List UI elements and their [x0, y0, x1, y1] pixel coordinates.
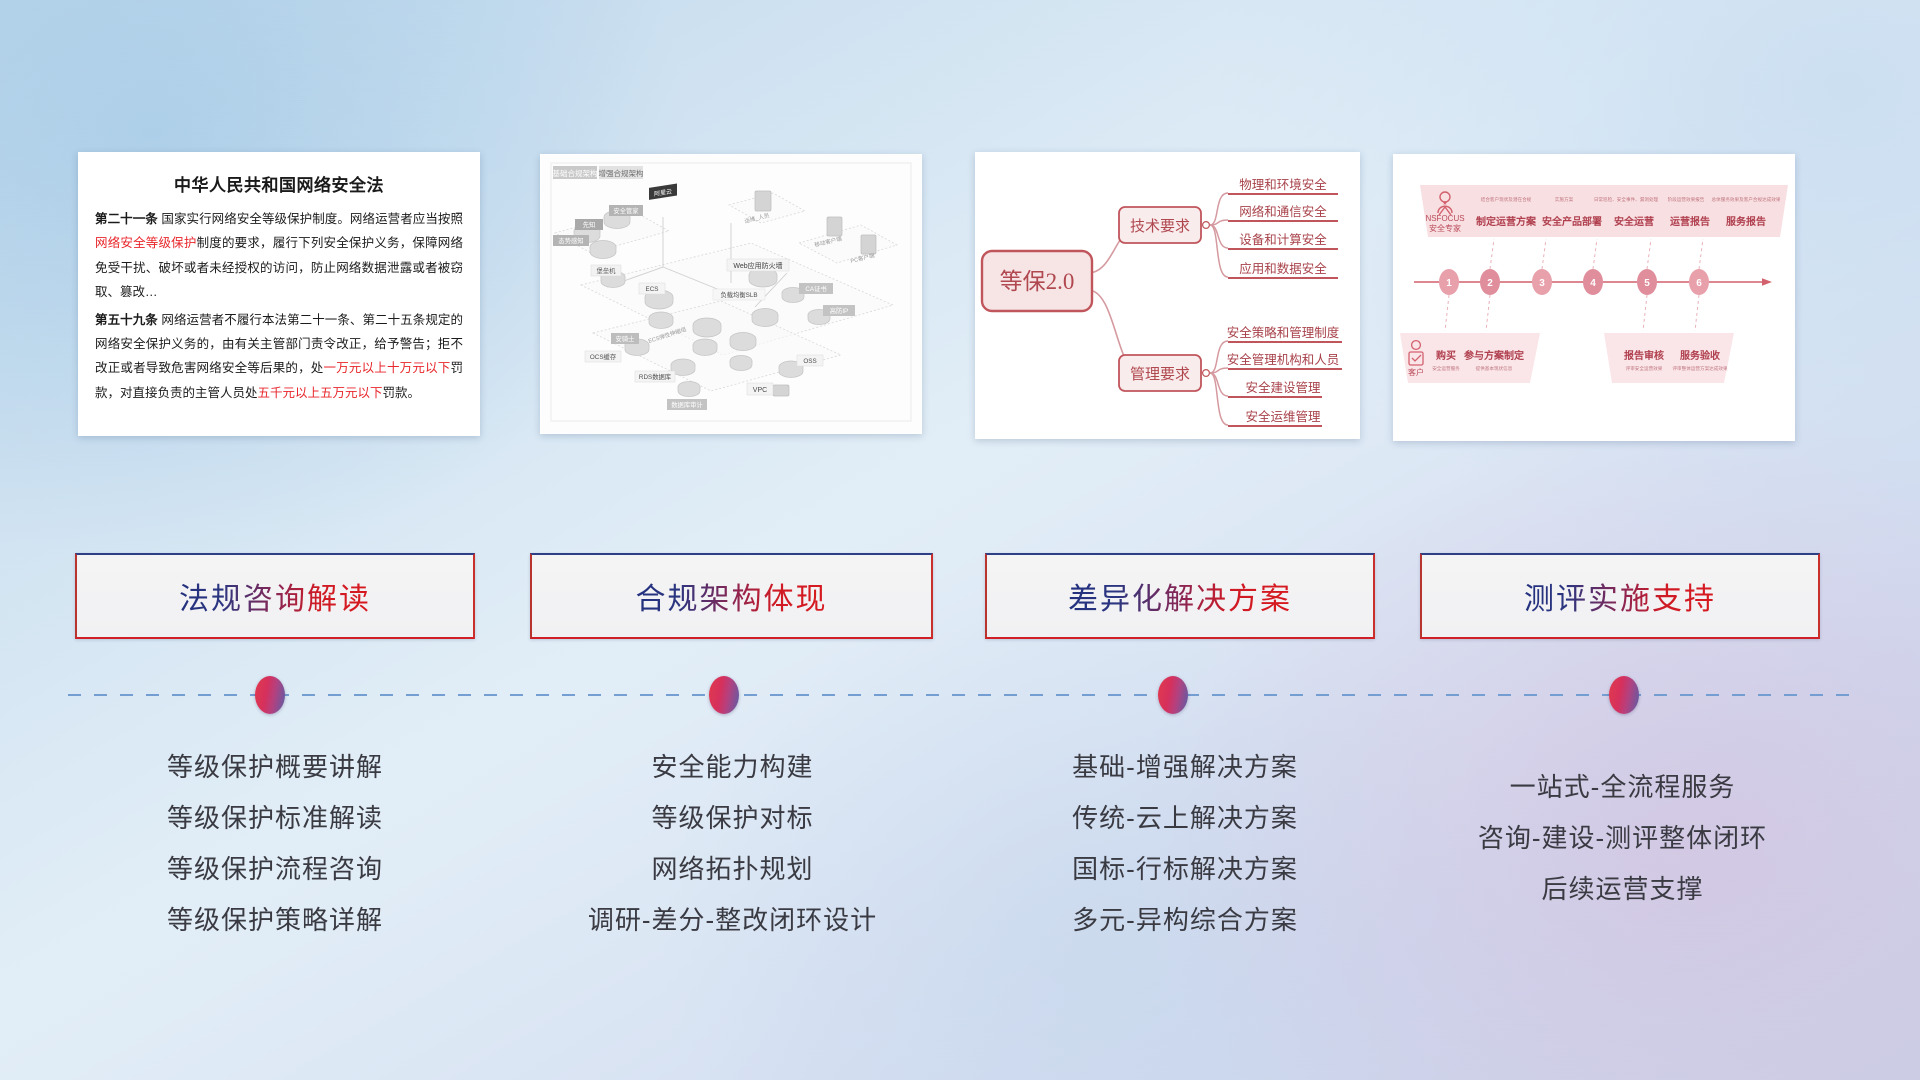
list-item: 后续运营支撑	[1420, 864, 1825, 915]
list-item: 国标-行标解决方案	[985, 844, 1385, 895]
list-item: 网络拓扑规划	[525, 844, 940, 895]
list-item: 等级保护标准解读	[70, 793, 480, 844]
svg-text:5: 5	[1644, 278, 1650, 289]
nsfocus-bottom-step-1: 购买	[1436, 349, 1456, 362]
law-body-text: 国家实行网络安全等级保护制度。网络运营者应当按照	[158, 212, 463, 226]
section-title-row: 法规咨询解读 合规架构体现 差异化解决方案 测评实施支持	[0, 553, 1920, 639]
mindmap-leaf-mgmt-4: 安全运维管理	[1245, 409, 1321, 424]
mindmap-leaf-tech-4: 应用和数据安全	[1239, 261, 1327, 276]
nsfocus-client-label: 客户	[1408, 367, 1424, 377]
timeline-dashed-rail	[68, 694, 1858, 696]
section-detail-list-3: 基础-增强解决方案 传统-云上解决方案 国标-行标解决方案 多元-异构综合方案	[985, 742, 1385, 946]
svg-text:OCS缓存: OCS缓存	[590, 352, 617, 361]
section-detail-list-4: 一站式-全流程服务 咨询-建设-测评整体闭环 后续运营支撑	[1420, 762, 1825, 915]
section-title-box-3[interactable]: 差异化解决方案	[985, 553, 1375, 639]
cloud-architecture-diagram: 基础合规架构 增强合规架构 阿里云	[541, 155, 921, 433]
section-detail-list-1: 等级保护概要讲解 等级保护标准解读 等级保护流程咨询 等级保护策略详解	[70, 742, 480, 946]
law-highlight-text: 五千元以上五万元以下	[258, 386, 383, 400]
law-text-card: 中华人民共和国网络安全法 第二十一条 国家实行网络安全等级保护制度。网络运营者应…	[78, 152, 480, 436]
svg-text:CA证书: CA证书	[805, 284, 826, 293]
svg-text:阶段运营效果报告: 阶段运营效果报告	[1668, 196, 1705, 203]
nsfocus-top-step-2: 安全产品部署	[1542, 215, 1602, 228]
svg-text:评审整体运营方案达成效果: 评审整体运营方案达成效果	[1672, 365, 1728, 372]
svg-text:ECS: ECS	[646, 286, 659, 293]
svg-text:安全管家: 安全管家	[613, 206, 639, 215]
law-card-body: 中华人民共和国网络安全法 第二十一条 国家实行网络安全等级保护制度。网络运营者应…	[79, 153, 479, 435]
svg-text:总体服务效果及客户合规达成效果: 总体服务效果及客户合规达成效果	[1712, 196, 1781, 203]
svg-text:4: 4	[1590, 278, 1596, 289]
section-title-box-2[interactable]: 合规架构体现	[530, 553, 933, 639]
list-item: 传统-云上解决方案	[985, 793, 1385, 844]
mindmap-branch-label-tech: 技术要求	[1130, 218, 1190, 235]
list-item: 咨询-建设-测评整体闭环	[1420, 813, 1825, 864]
section-title-box-1[interactable]: 法规咨询解读	[75, 553, 475, 639]
nsfocus-actor-role: 安全专家	[1429, 223, 1461, 233]
svg-text:提供基本现状信息: 提供基本现状信息	[1476, 365, 1513, 372]
timeline-node-4[interactable]	[1609, 676, 1639, 714]
section-title-label-4: 测评实施支持	[1524, 574, 1716, 618]
svg-text:6: 6	[1696, 278, 1702, 289]
list-item: 等级保护策略详解	[70, 895, 480, 946]
mindmap-leaf-tech-3: 设备和计算安全	[1239, 232, 1327, 247]
section-detail-row: 等级保护概要讲解 等级保护标准解读 等级保护流程咨询 等级保护策略详解 安全能力…	[0, 742, 1920, 972]
nsfocus-service-timeline: ★ NSFOCUS 安全专家 客户 123	[1394, 155, 1794, 440]
list-item: 多元-异构综合方案	[985, 895, 1385, 946]
svg-text:高防IP: 高防IP	[830, 306, 849, 315]
svg-text:负载均衡SLB: 负载均衡SLB	[720, 290, 757, 299]
mindmap-leaf-tech-1: 物理和环境安全	[1239, 177, 1327, 192]
screenshot-card-row: 中华人民共和国网络安全法 第二十一条 国家实行网络安全等级保护制度。网络运营者应…	[0, 152, 1920, 452]
svg-text:OSS: OSS	[803, 358, 816, 365]
section-title-label-1: 法规咨询解读	[179, 574, 371, 618]
nsfocus-bottom-step-4: 服务验收	[1680, 349, 1720, 362]
section-title-label-3: 差异化解决方案	[1068, 574, 1292, 618]
svg-text:评审安全运营效果: 评审安全运营效果	[1626, 365, 1663, 372]
nsfocus-top-step-5: 服务报告	[1726, 215, 1766, 228]
nsfocus-bottom-step-2: 参与方案制定	[1464, 349, 1524, 362]
list-item: 一站式-全流程服务	[1420, 762, 1825, 813]
list-item: 调研-差分-整改闭环设计	[525, 895, 940, 946]
mindmap-leaf-mgmt-3: 安全建设管理	[1245, 380, 1321, 395]
svg-text:实施方案: 实施方案	[1555, 196, 1574, 203]
svg-text:增强合规架构: 增强合规架构	[599, 168, 644, 178]
section-detail-list-2: 安全能力构建 等级保护对标 网络拓扑规划 调研-差分-整改闭环设计	[525, 742, 940, 946]
svg-text:态势感知: 态势感知	[558, 236, 583, 245]
svg-text:安骑士: 安骑士	[616, 334, 635, 343]
law-paragraph-1: 第二十一条 国家实行网络安全等级保护制度。网络运营者应当按照网络安全等级保护制度…	[95, 207, 463, 305]
svg-text:VPC: VPC	[753, 387, 767, 394]
svg-text:★: ★	[1442, 200, 1447, 207]
list-item: 安全能力构建	[525, 742, 940, 793]
svg-text:NSFOCUS: NSFOCUS	[1425, 214, 1464, 223]
law-card-title: 中华人民共和国网络安全法	[95, 171, 463, 196]
svg-text:堡垒机: 堡垒机	[597, 266, 617, 275]
section-title-box-4[interactable]: 测评实施支持	[1420, 553, 1820, 639]
law-highlight-text: 一万元以上十万元以下	[324, 361, 451, 375]
list-item: 等级保护对标	[525, 793, 940, 844]
svg-text:基础合规架构: 基础合规架构	[553, 168, 598, 178]
list-item: 基础-增强解决方案	[985, 742, 1385, 793]
nsfocus-top-step-3: 安全运营	[1614, 215, 1654, 228]
architecture-diagram-card: 基础合规架构 增强合规架构 阿里云	[540, 154, 922, 434]
svg-text:3: 3	[1539, 278, 1545, 289]
svg-text:2: 2	[1487, 278, 1493, 289]
law-body-text: 罚款。	[383, 386, 421, 400]
svg-text:数据库审计: 数据库审计	[671, 400, 703, 409]
mindmap-leaf-mgmt-2: 安全管理机构和人员	[1227, 352, 1340, 367]
nsfocus-timeline-card: ★ NSFOCUS 安全专家 客户 123	[1393, 154, 1795, 441]
timeline-node-2[interactable]	[709, 676, 739, 714]
mindmap-branch-label-mgmt: 管理要求	[1130, 366, 1190, 383]
svg-text:结合客户现状及潜在合规: 结合客户现状及潜在合规	[1481, 196, 1532, 203]
timeline-node-1[interactable]	[255, 676, 285, 714]
law-paragraph-2: 第五十九条 网络运营者不履行本法第二十一条、第二十五条规定的网络安全保护义务的，…	[95, 308, 463, 406]
law-article-number: 第二十一条	[95, 212, 158, 226]
svg-text:先知: 先知	[583, 220, 596, 229]
mindmap-leaf-mgmt-1: 安全策略和管理制度	[1227, 325, 1340, 340]
svg-text:安全运营服务: 安全运营服务	[1432, 365, 1460, 372]
mindmap-root-label: 等保2.0	[1000, 269, 1075, 294]
nsfocus-bottom-step-3: 报告审核	[1624, 349, 1664, 362]
section-title-label-2: 合规架构体现	[636, 574, 828, 618]
svg-text:1: 1	[1446, 278, 1452, 289]
nsfocus-top-step-4: 运营报告	[1670, 215, 1710, 228]
list-item: 等级保护流程咨询	[70, 844, 480, 895]
nsfocus-top-step-1: 制定运营方案	[1476, 215, 1537, 228]
mindmap-leaf-tech-2: 网络和通信安全	[1239, 204, 1327, 219]
law-article-number: 第五十九条	[95, 313, 158, 327]
mindmap-card: 等保2.0 技术要求 管理要求 物	[975, 152, 1360, 439]
timeline-node-3[interactable]	[1158, 676, 1188, 714]
law-highlight-text: 网络安全等级保护	[95, 236, 197, 250]
dengbao-mindmap: 等保2.0 技术要求 管理要求 物	[976, 153, 1359, 438]
svg-text:RDS数据库: RDS数据库	[639, 372, 671, 381]
svg-text:日常巡检、安全事件、漏洞处理: 日常巡检、安全事件、漏洞处理	[1594, 196, 1659, 203]
list-item: 等级保护概要讲解	[70, 742, 480, 793]
svg-text:Web应用防火墙: Web应用防火墙	[733, 261, 782, 270]
